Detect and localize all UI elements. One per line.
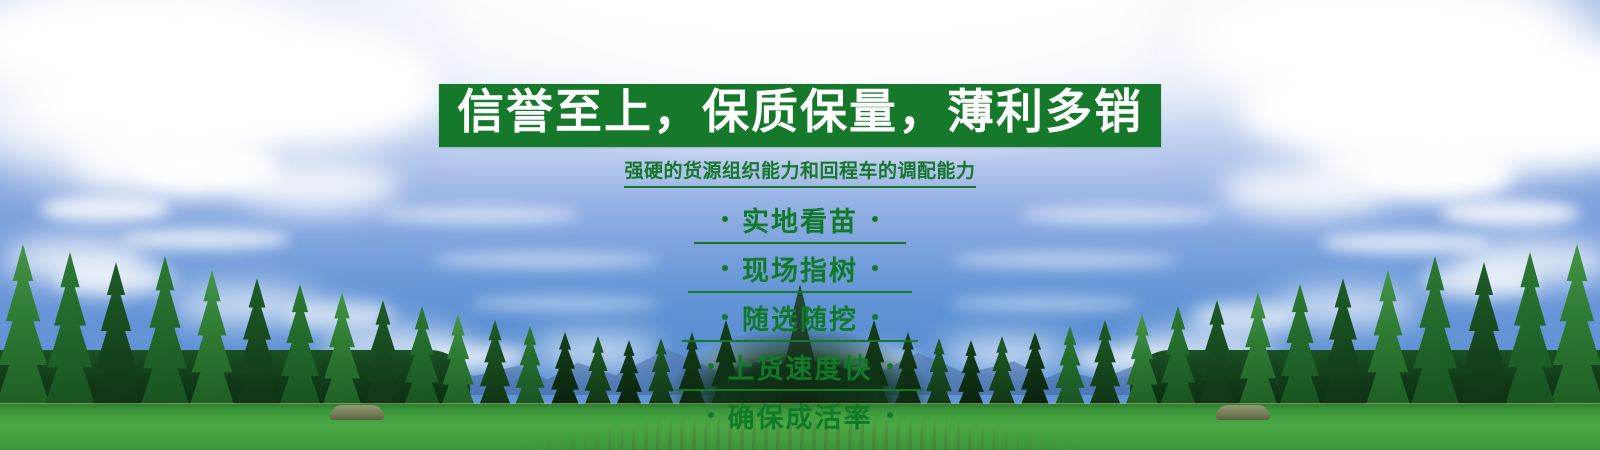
bullet-dot-icon [708, 412, 714, 418]
bullet-dot-icon [872, 265, 878, 271]
feature-item: 上货速度快 [676, 346, 924, 391]
bullet-dot-icon [872, 314, 878, 320]
feature-label: 确保成活率 [728, 396, 873, 435]
feature-item: 现场指树 [688, 248, 912, 293]
banner-content: 信誉至上，保质保量，薄利多销 强硬的货源组织能力和回程车的调配能力 实地看苗 现… [0, 0, 1600, 450]
feature-item: 实地看苗 [694, 199, 906, 244]
feature-item: 确保成活率 [670, 395, 930, 438]
bullet-dot-icon [887, 363, 893, 369]
feature-label: 随选随挖 [742, 298, 858, 337]
bullet-dot-icon [722, 265, 728, 271]
bullet-dot-icon [722, 314, 728, 320]
bullet-dot-icon [708, 363, 714, 369]
bullet-dot-icon [722, 216, 728, 222]
subheadline-text: 强硬的货源组织能力和回程车的调配能力 [624, 156, 975, 188]
bullet-dot-icon [872, 216, 878, 222]
feature-label: 实地看苗 [742, 200, 858, 239]
bullet-dot-icon [887, 412, 893, 418]
promo-banner: 信誉至上，保质保量，薄利多销 强硬的货源组织能力和回程车的调配能力 实地看苗 现… [0, 0, 1600, 450]
feature-label: 现场指树 [742, 249, 858, 288]
feature-list: 实地看苗 现场指树 随选随挖 上货速度快 确保成活率 [670, 199, 930, 442]
feature-item: 随选随挖 [682, 297, 918, 342]
headline-text: 信誉至上，保质保量，薄利多销 [457, 88, 1143, 139]
feature-label: 上货速度快 [728, 347, 873, 386]
headline-band: 信誉至上，保质保量，薄利多销 [439, 84, 1161, 147]
